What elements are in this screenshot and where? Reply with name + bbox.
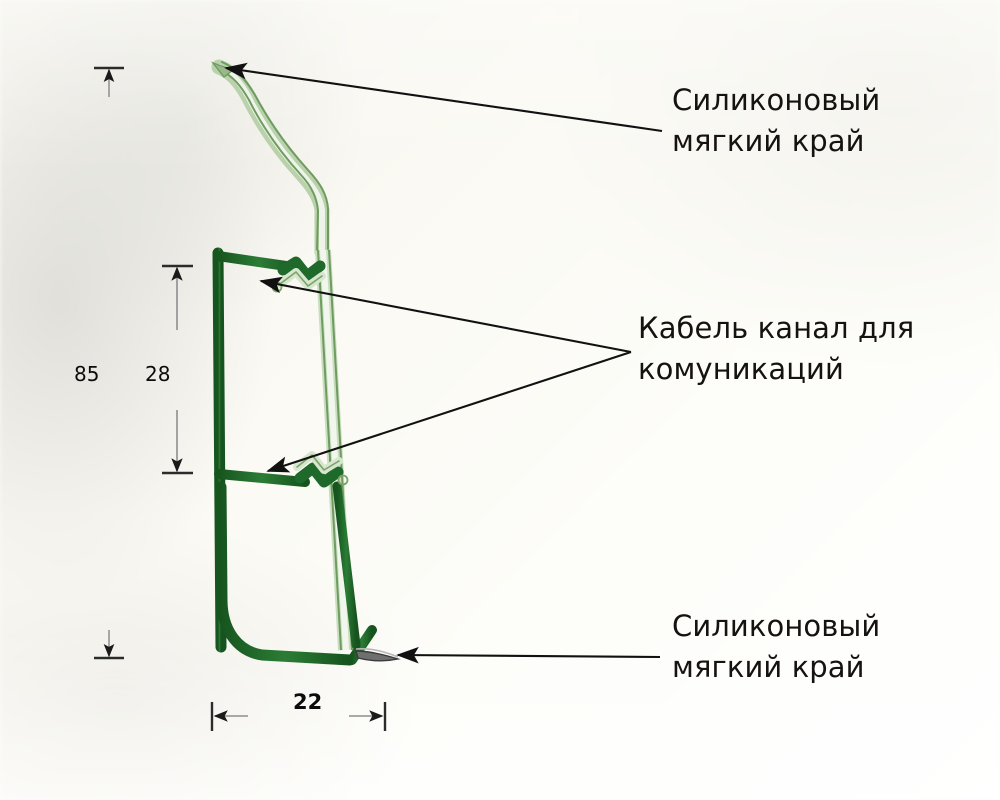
label-bottom-silicone: Силиконовый мягкий край [672,606,880,688]
label-cable-channel: Кабель канал для комуникаций [638,308,914,390]
dimension-value-28: 28 [145,362,170,386]
dimension-value-85: 85 [74,362,99,386]
dimension-value-22: 22 [293,690,322,714]
diagram-canvas: Силиконовый мягкий край Кабель канал для… [0,0,1000,800]
label-top-silicone: Силиконовый мягкий край [672,80,880,162]
